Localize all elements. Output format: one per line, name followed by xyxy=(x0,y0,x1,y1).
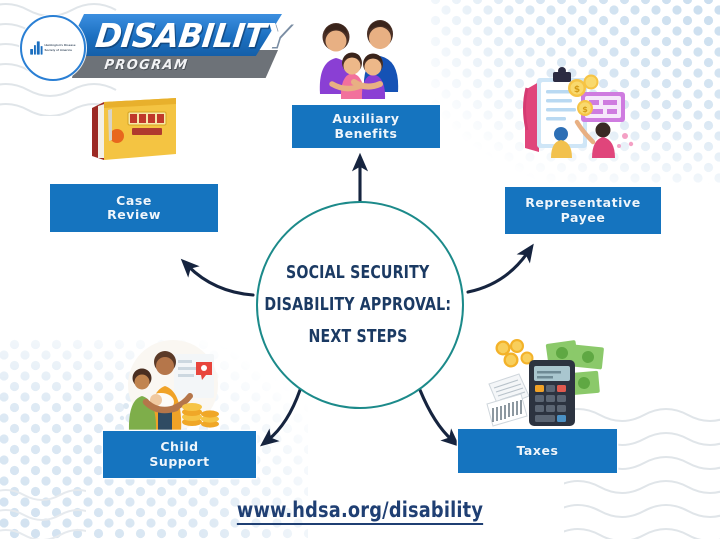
node-case-review-label: Case Review xyxy=(107,194,161,223)
node-auxiliary-benefits-line2: Benefits xyxy=(332,127,399,142)
footer-url[interactable]: www.hdsa.org/disability xyxy=(0,498,720,525)
node-representative-payee-label: Representative Payee xyxy=(525,196,641,225)
arrow-to-child-support xyxy=(268,390,300,440)
hub-title: SOCIAL SECURITY DISABILITY APPROVAL: NEX… xyxy=(256,222,460,388)
node-taxes-label: Taxes xyxy=(516,444,558,459)
hub-title-line1: SOCIAL SECURITY xyxy=(286,264,429,282)
node-auxiliary-benefits-line1: Auxiliary xyxy=(332,112,399,127)
node-auxiliary-benefits-label: Auxiliary Benefits xyxy=(332,112,399,141)
node-child-support[interactable]: Child Support xyxy=(102,430,257,479)
center-hub: SOCIAL SECURITY DISABILITY APPROVAL: NEX… xyxy=(256,222,464,388)
footer-url-text[interactable]: www.hdsa.org/disability xyxy=(237,498,483,525)
node-child-support-label: Child Support xyxy=(149,440,209,469)
node-representative-payee[interactable]: Representative Payee xyxy=(504,186,662,235)
node-child-support-line2: Support xyxy=(149,455,209,470)
node-taxes[interactable]: Taxes xyxy=(457,428,618,474)
node-case-review-line1: Case xyxy=(107,194,161,209)
node-case-review-line2: Review xyxy=(107,208,161,223)
hub-title-line2: DISABILITY APPROVAL: xyxy=(265,296,452,314)
infographic-canvas: DISABILITY PROGRAM Huntington's Disease … xyxy=(0,0,720,539)
node-representative-payee-line2: Payee xyxy=(525,211,641,226)
hub-title-line3: NEXT STEPS xyxy=(308,328,407,346)
node-child-support-line1: Child xyxy=(149,440,209,455)
arrow-to-representative-payee xyxy=(468,252,528,292)
node-auxiliary-benefits[interactable]: Auxiliary Benefits xyxy=(291,104,441,149)
arrow-to-case-review xyxy=(188,266,253,295)
node-representative-payee-line1: Representative xyxy=(525,196,641,211)
arrow-to-taxes xyxy=(420,390,452,440)
node-case-review[interactable]: Case Review xyxy=(49,183,219,233)
node-taxes-line1: Taxes xyxy=(516,444,558,459)
